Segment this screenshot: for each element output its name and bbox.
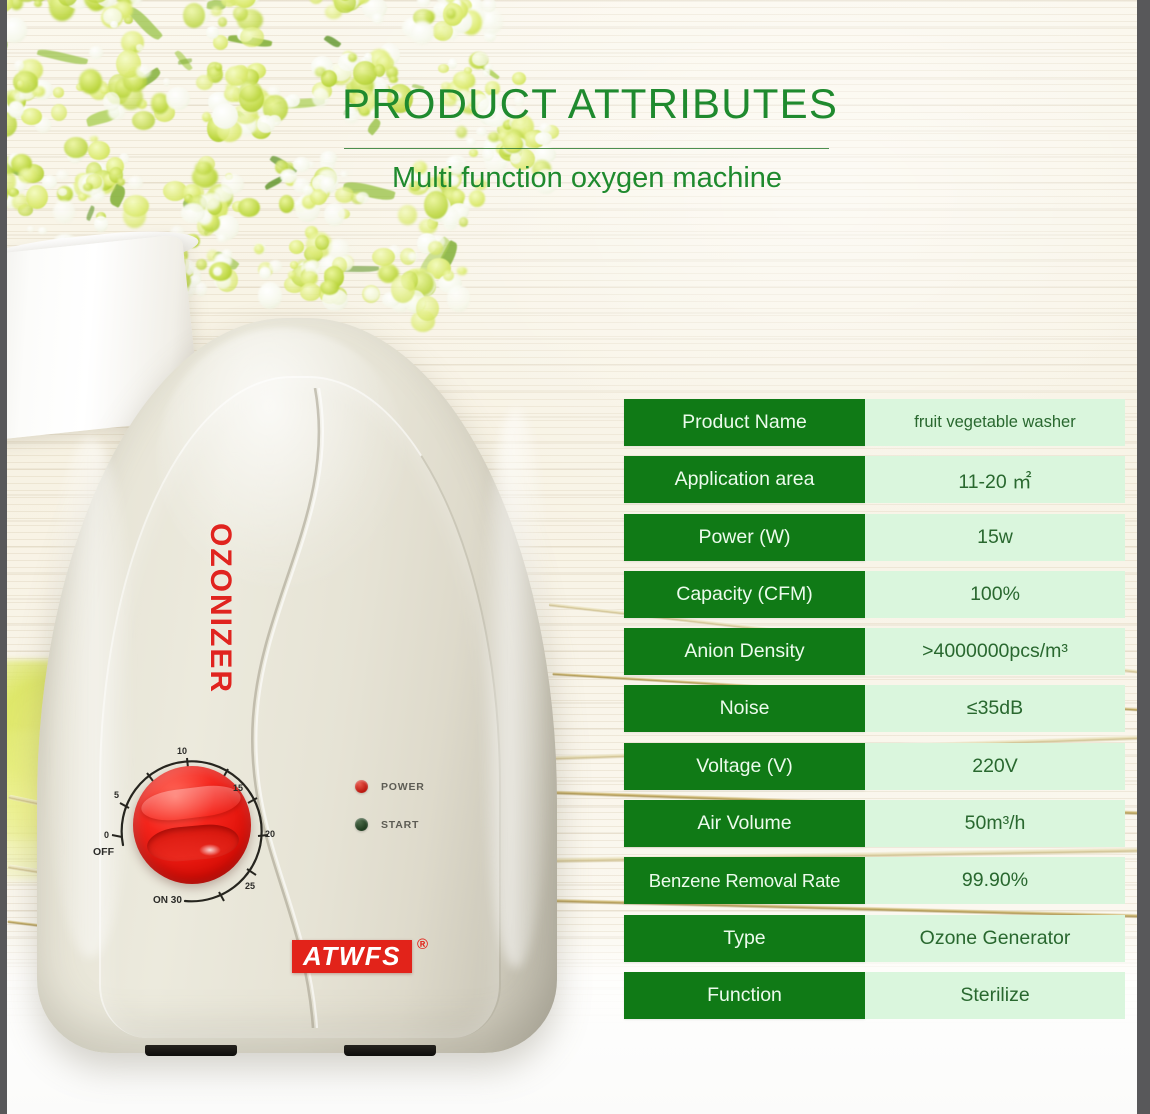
- ozonizer-brand-text: OZONIZER: [203, 523, 237, 694]
- spec-label: Anion Density: [624, 628, 865, 675]
- flower-blossom: [163, 78, 170, 86]
- background-photo: OZONIZER: [7, 0, 1137, 1114]
- flower-blossom: [438, 64, 449, 72]
- flower-blossom: [535, 132, 551, 145]
- device-foot-left: [145, 1045, 237, 1056]
- flower-blossom: [398, 205, 417, 225]
- indicator-start: START: [355, 818, 419, 831]
- flower-blossom: [410, 21, 434, 44]
- ozone-generator-device: OZONIZER: [37, 318, 557, 1078]
- knob-grip-upper: [140, 782, 243, 824]
- spec-label: Noise: [624, 685, 865, 732]
- flower-blossom: [443, 270, 454, 281]
- spec-label: Capacity (CFM): [624, 571, 865, 618]
- flower-blossom: [280, 169, 297, 183]
- flower-blossom: [218, 17, 227, 26]
- flower-blossom: [457, 267, 466, 275]
- flower-blossom: [90, 136, 98, 142]
- flower-blossom: [315, 235, 328, 250]
- spec-value: 11-20 ㎡: [865, 456, 1125, 503]
- flower-blossom: [374, 64, 386, 77]
- device-right-highlight: [481, 408, 551, 968]
- flower-blossom: [183, 3, 205, 28]
- indicator-power: POWER: [355, 780, 425, 793]
- spec-value: 99.90%: [865, 857, 1125, 904]
- flower-blossom: [476, 127, 487, 137]
- flower-blossom: [51, 104, 67, 122]
- flower-blossom: [446, 8, 456, 19]
- spec-value: 15w: [865, 514, 1125, 561]
- dial-tick-20: 20: [265, 829, 275, 839]
- table-row: Benzene Removal Rate99.90%: [624, 857, 1125, 904]
- spec-label: Air Volume: [624, 800, 865, 847]
- flower-blossom: [211, 6, 221, 16]
- flower-blossom: [53, 87, 64, 98]
- table-row: Noise≤35dB: [624, 685, 1125, 732]
- flower-blossom: [279, 195, 294, 212]
- flower-blossom: [472, 52, 488, 65]
- flower-blossom: [324, 203, 345, 226]
- dial-tick-on30: ON 30: [153, 895, 182, 906]
- flower-blossom: [132, 111, 155, 130]
- dial-tick-25: 25: [245, 881, 255, 891]
- flower-blossom: [7, 0, 13, 12]
- flower-blossom: [212, 103, 238, 128]
- device-foot-right: [344, 1045, 436, 1056]
- flower-blossom: [200, 193, 220, 209]
- flower-blossom: [447, 285, 470, 311]
- table-row: Capacity (CFM)100%: [624, 571, 1125, 618]
- title-divider: [344, 148, 829, 149]
- dial-tick-15: 15: [233, 783, 243, 793]
- flower-blossom: [459, 217, 469, 227]
- frame-border-left: [0, 0, 7, 1114]
- flower-blossom: [466, 138, 476, 146]
- flower-blossom: [372, 248, 395, 266]
- flower-stem: [37, 47, 89, 66]
- flower-blossom: [128, 176, 143, 189]
- power-led-icon: [355, 780, 368, 793]
- flower-blossom: [110, 21, 118, 28]
- flower-blossom: [293, 157, 310, 172]
- flower-blossom: [417, 0, 430, 7]
- flower-blossom: [320, 151, 337, 165]
- knob-grip-lower: [146, 822, 241, 864]
- flower-blossom: [239, 81, 262, 102]
- page-subtitle: Multi function oxygen machine: [342, 162, 832, 195]
- knob-specular-highlight: [199, 844, 221, 856]
- flower-blossom: [391, 275, 416, 303]
- flower-blossom: [254, 244, 263, 254]
- flower-blossom: [38, 227, 46, 234]
- spec-value: Sterilize: [865, 972, 1125, 1019]
- spec-value: >4000000pcs/m³: [865, 628, 1125, 675]
- spec-label: Voltage (V): [624, 743, 865, 790]
- timer-dial[interactable]: OFF 0 5 10 15 20 25 ON 30: [95, 733, 295, 913]
- table-row: Air Volume50m³/h: [624, 800, 1125, 847]
- flower-blossom: [8, 101, 24, 118]
- spec-value: 100%: [865, 571, 1125, 618]
- flower-blossom: [240, 27, 263, 47]
- dial-tick-5: 5: [114, 790, 119, 800]
- spec-value: 50m³/h: [865, 800, 1125, 847]
- flower-blossom: [94, 216, 108, 232]
- flower-blossom: [136, 65, 151, 78]
- spec-value: fruit vegetable washer: [865, 399, 1125, 446]
- spec-label: Product Name: [624, 399, 865, 446]
- table-row: Power (W)15w: [624, 514, 1125, 561]
- flower-blossom: [195, 161, 212, 175]
- spec-label: Application area: [624, 456, 865, 503]
- flower-blossom: [17, 80, 24, 88]
- flower-blossom: [217, 234, 227, 242]
- atwfs-logo: ATWFS ®: [292, 940, 428, 973]
- flower-blossom: [222, 249, 232, 258]
- flower-blossom: [14, 60, 24, 71]
- flower-blossom: [309, 0, 324, 4]
- flower-blossom: [34, 0, 42, 7]
- power-led-label: POWER: [381, 781, 425, 793]
- flower-blossom: [303, 185, 314, 195]
- flower-blossom: [269, 260, 282, 272]
- flower-blossom: [483, 69, 491, 77]
- table-row: Anion Density>4000000pcs/m³: [624, 628, 1125, 675]
- page-title: PRODUCT ATTRIBUTES: [342, 80, 832, 128]
- flower-stem: [324, 34, 342, 50]
- spec-value: Ozone Generator: [865, 915, 1125, 962]
- flower-blossom: [300, 283, 321, 301]
- flower-blossom: [320, 280, 339, 295]
- flower-blossom: [294, 201, 302, 207]
- flower-blossom: [166, 87, 189, 110]
- dial-tick-off: OFF: [93, 846, 114, 858]
- spec-label: Function: [624, 972, 865, 1019]
- flower-blossom: [312, 88, 329, 108]
- flower-blossom: [469, 149, 478, 157]
- flower-blossom: [334, 0, 355, 13]
- start-led-icon: [355, 818, 368, 831]
- flower-blossom: [27, 226, 34, 232]
- flower-blossom: [289, 240, 304, 254]
- flower-blossom: [7, 17, 27, 43]
- flower-blossom: [482, 0, 495, 12]
- flower-blossom: [89, 46, 103, 59]
- flower-blossom: [258, 282, 282, 309]
- flower-blossom: [58, 188, 67, 196]
- spec-value: 220V: [865, 743, 1125, 790]
- flower-blossom: [117, 178, 125, 186]
- flower-blossom: [372, 13, 383, 24]
- table-row: Product Namefruit vegetable washer: [624, 399, 1125, 446]
- registered-trademark-icon: ®: [417, 936, 428, 953]
- flower-blossom: [238, 198, 260, 217]
- spec-label: Benzene Removal Rate: [624, 857, 865, 904]
- atwfs-logo-text: ATWFS: [292, 940, 412, 973]
- flower-blossom: [56, 170, 68, 179]
- product-attributes-banner: OZONIZER: [0, 0, 1150, 1114]
- flower-blossom: [103, 92, 119, 111]
- dial-tick-0: 0: [104, 830, 109, 840]
- flower-blossom: [123, 195, 149, 217]
- frame-border-right: [1137, 0, 1150, 1114]
- product-spec-table: Product Namefruit vegetable washerApplic…: [624, 399, 1125, 1029]
- flower-blossom: [12, 194, 28, 210]
- spec-label: Power (W): [624, 514, 865, 561]
- flower-blossom: [408, 252, 418, 260]
- flower-blossom: [26, 185, 48, 210]
- flower-blossom: [448, 58, 457, 69]
- spec-label: Type: [624, 915, 865, 962]
- flower-blossom: [42, 175, 57, 189]
- table-row: Voltage (V)220V: [624, 743, 1125, 790]
- flower-blossom: [64, 137, 87, 158]
- spec-value: ≤35dB: [865, 685, 1125, 732]
- flower-blossom: [288, 271, 296, 279]
- flower-blossom: [196, 259, 206, 269]
- dial-tick-10: 10: [177, 746, 187, 756]
- table-row: TypeOzone Generator: [624, 915, 1125, 962]
- flower-blossom: [196, 75, 212, 90]
- table-row: FunctionSterilize: [624, 972, 1125, 1019]
- flower-blossom: [419, 219, 437, 234]
- flower-blossom: [53, 200, 75, 223]
- flower-blossom: [503, 134, 522, 153]
- start-led-label: START: [381, 819, 419, 831]
- flower-blossom: [88, 141, 110, 160]
- table-row: Application area11-20 ㎡: [624, 456, 1125, 503]
- flower-blossom: [257, 115, 274, 133]
- flower-blossom: [136, 44, 143, 51]
- device-apex-highlight: [157, 328, 407, 588]
